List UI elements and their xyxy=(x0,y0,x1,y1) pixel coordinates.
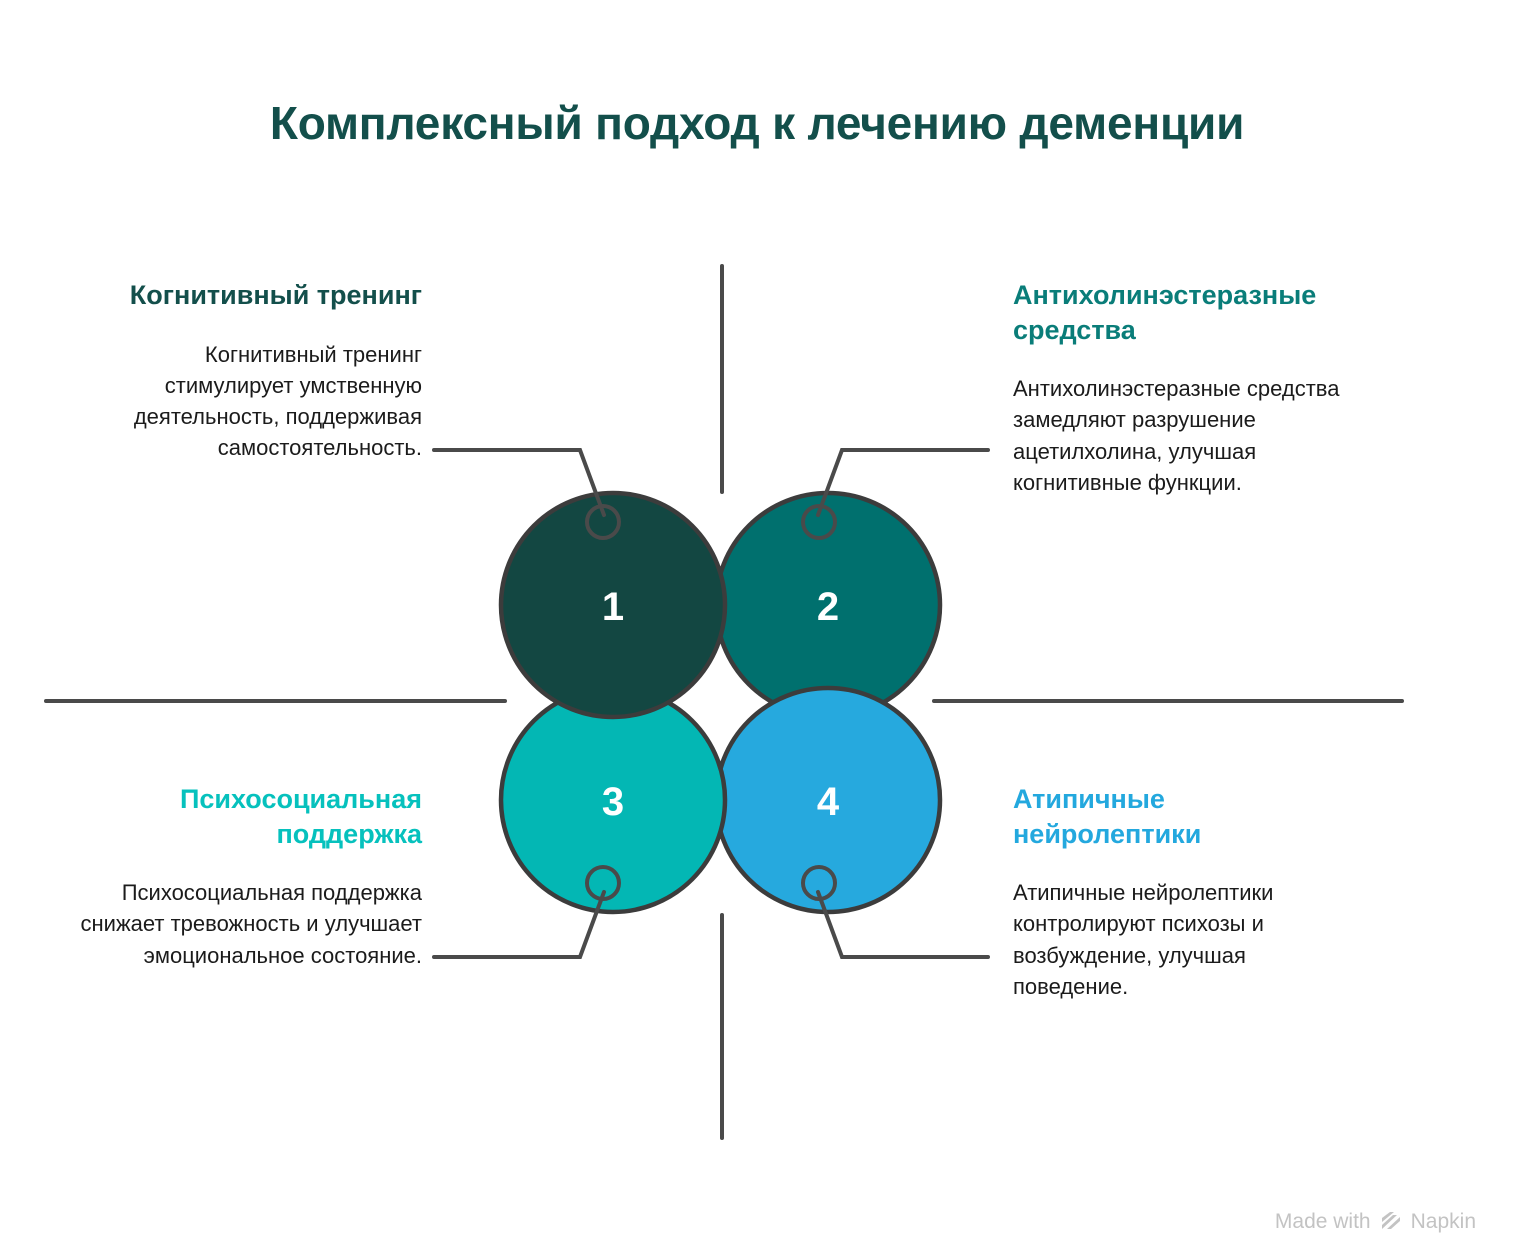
quadrant-4: Атипичные нейролептики Атипичные нейроле… xyxy=(1013,782,1353,1002)
quadrant-2: Антихолинэстеразные средства Антихолинэс… xyxy=(1013,278,1353,498)
watermark-brand: Napkin xyxy=(1411,1210,1476,1234)
quadrant-1-body: Когнитивный тренинг стимулирует умственн… xyxy=(92,339,422,464)
quadrant-3-body: Психосоциальная поддержка снижает тревож… xyxy=(72,877,422,971)
quadrant-1-heading: Когнитивный тренинг xyxy=(92,278,422,313)
quadrant-4-body: Атипичные нейролептики контролируют псих… xyxy=(1013,877,1343,1002)
circle-group xyxy=(501,493,940,912)
circle-number-1: 1 xyxy=(602,585,624,629)
quadrant-2-body: Антихолинэстеразные средства замедляют р… xyxy=(1013,373,1343,498)
circle-number-2: 2 xyxy=(817,585,839,629)
quadrant-3: Психосоциальная поддержка Психосоциальна… xyxy=(72,782,422,971)
quadrant-3-heading: Психосоциальная поддержка xyxy=(72,782,422,851)
watermark: Made with Napkin xyxy=(1275,1210,1476,1234)
circle-number-4: 4 xyxy=(817,780,840,824)
watermark-text: Made with xyxy=(1275,1210,1371,1234)
circle-number-3: 3 xyxy=(602,780,624,824)
quadrant-2-heading: Антихолинэстеразные средства xyxy=(1013,278,1353,347)
quadrant-4-heading: Атипичные нейролептики xyxy=(1013,782,1353,851)
quadrant-1: Когнитивный тренинг Когнитивный тренинг … xyxy=(92,278,422,463)
napkin-logo-icon xyxy=(1380,1212,1402,1232)
venn-diagram: 1 2 3 4 xyxy=(0,0,1514,1256)
